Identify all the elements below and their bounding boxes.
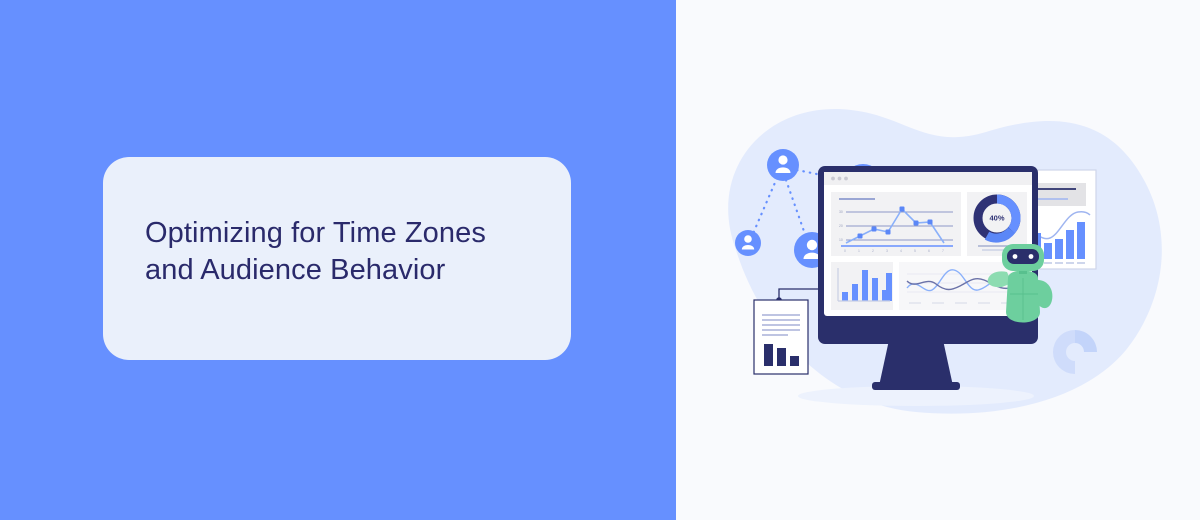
line-chart-widget[interactable]: 30 20 10 01 [831, 192, 961, 256]
svg-text:6: 6 [928, 249, 930, 253]
monitor-stand [879, 340, 953, 386]
page-title: Optimizing for Time Zones and Audience B… [145, 215, 545, 289]
report-document-left[interactable] [754, 300, 808, 374]
donut-center-label: 40% [989, 214, 1004, 223]
analytics-dashboard-illustration: 30 20 10 01 [676, 0, 1200, 520]
svg-text:20: 20 [839, 224, 843, 228]
avatar-node-left[interactable] [735, 230, 761, 256]
monitor-base [872, 382, 960, 390]
page-root: Optimizing for Time Zones and Audience B… [0, 0, 1200, 520]
robot-eye-left [1013, 254, 1018, 259]
robot-eye-right [1029, 254, 1034, 259]
svg-text:2: 2 [872, 249, 874, 253]
avatar-node-top[interactable] [767, 149, 799, 181]
left-hero-panel: Optimizing for Time Zones and Audience B… [0, 0, 676, 520]
window-dots [831, 177, 848, 181]
title-card: Optimizing for Time Zones and Audience B… [103, 157, 571, 360]
robot-face [1007, 249, 1039, 264]
svg-text:4: 4 [900, 249, 902, 253]
svg-text:3: 3 [886, 249, 888, 253]
svg-text:10: 10 [839, 238, 843, 242]
svg-text:5: 5 [914, 249, 916, 253]
svg-text:7: 7 [942, 249, 944, 253]
svg-text:0: 0 [844, 249, 846, 253]
right-illustration-panel: 30 20 10 01 [676, 0, 1200, 520]
svg-text:1: 1 [858, 249, 860, 253]
monitor-titlebar [824, 172, 1032, 185]
svg-text:30: 30 [839, 210, 843, 214]
bar-chart-widget[interactable] [831, 262, 893, 310]
